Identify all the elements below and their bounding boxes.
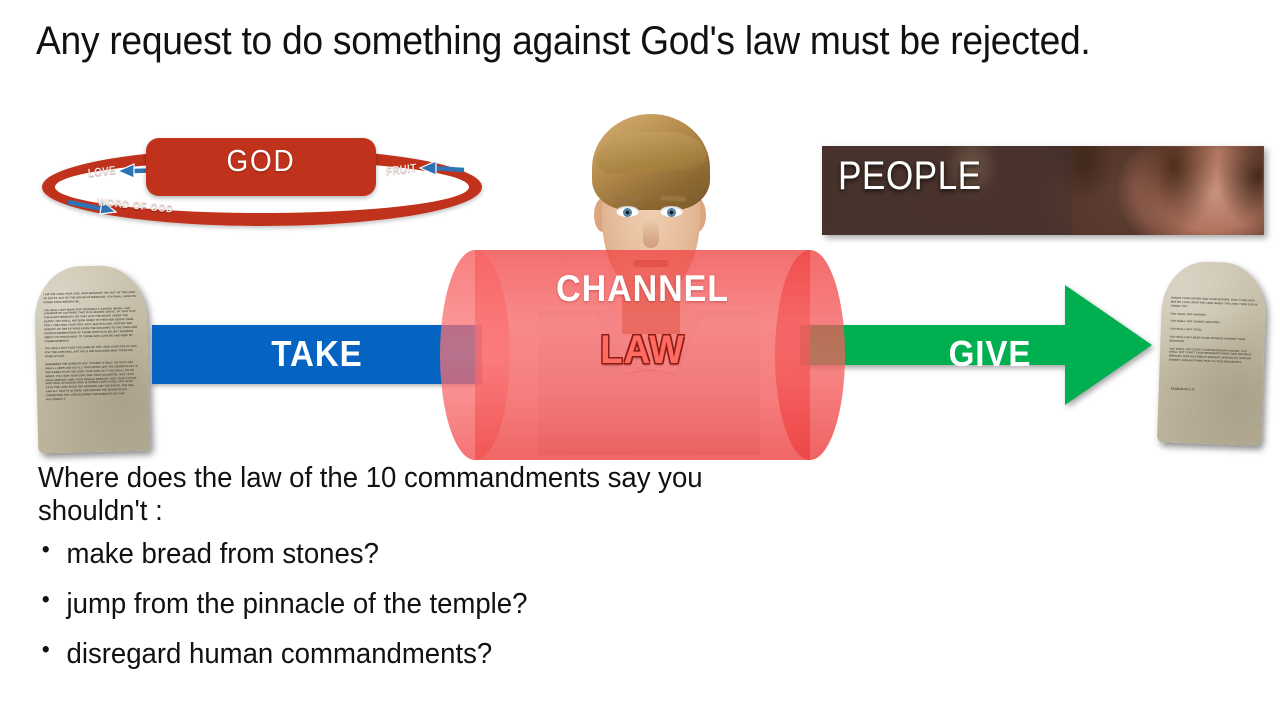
god-cycle-diagram: LOVE FRUIT WORD OF GOD GOD [42, 138, 482, 238]
take-label: TAKE [165, 333, 469, 375]
person-photo [538, 80, 760, 455]
bullet-list: make bread from stones? jump from the pi… [38, 540, 758, 669]
slide-canvas: Any request to do something against God'… [0, 0, 1280, 720]
body-text-block: Where does the law of the 10 commandment… [38, 462, 758, 690]
list-item: make bread from stones? [38, 540, 722, 569]
list-item: jump from the pinnacle of the temple? [38, 590, 722, 619]
people-label: PEOPLE [838, 154, 982, 199]
person-nose [643, 220, 659, 248]
give-label: GIVE [907, 333, 1073, 375]
stone-tablet-right: HONOR YOUR FATHER AND YOUR MOTHER, THAT … [1157, 260, 1267, 446]
tablet-scripture-reference: EXODUS 20:1-17 [1171, 387, 1195, 392]
people-photo-banner: PEOPLE [822, 146, 1264, 235]
god-box-shape: GOD [146, 138, 376, 196]
stone-tablet-left: I AM THE LORD YOUR GOD, WHO BROUGHT YOU … [34, 265, 151, 454]
person-mouth [633, 260, 669, 267]
person-iris-left [623, 208, 632, 217]
tablet-text-right: HONOR YOUR FATHER AND YOUR MOTHER, THAT … [1169, 297, 1258, 366]
slide-title: Any request to do something against God'… [36, 18, 1161, 64]
take-arrow: TAKE [152, 325, 482, 384]
god-label: GOD [158, 143, 365, 179]
list-item: disregard human commandments? [38, 640, 722, 669]
tablet-text-left: I AM THE LORD YOUR GOD, WHO BROUGHT YOU … [43, 291, 141, 402]
person-iris-right [667, 208, 676, 217]
fruit-arrow-icon [418, 160, 466, 178]
question-text: Where does the law of the 10 commandment… [38, 462, 722, 528]
person-chin-shadow [622, 276, 680, 290]
